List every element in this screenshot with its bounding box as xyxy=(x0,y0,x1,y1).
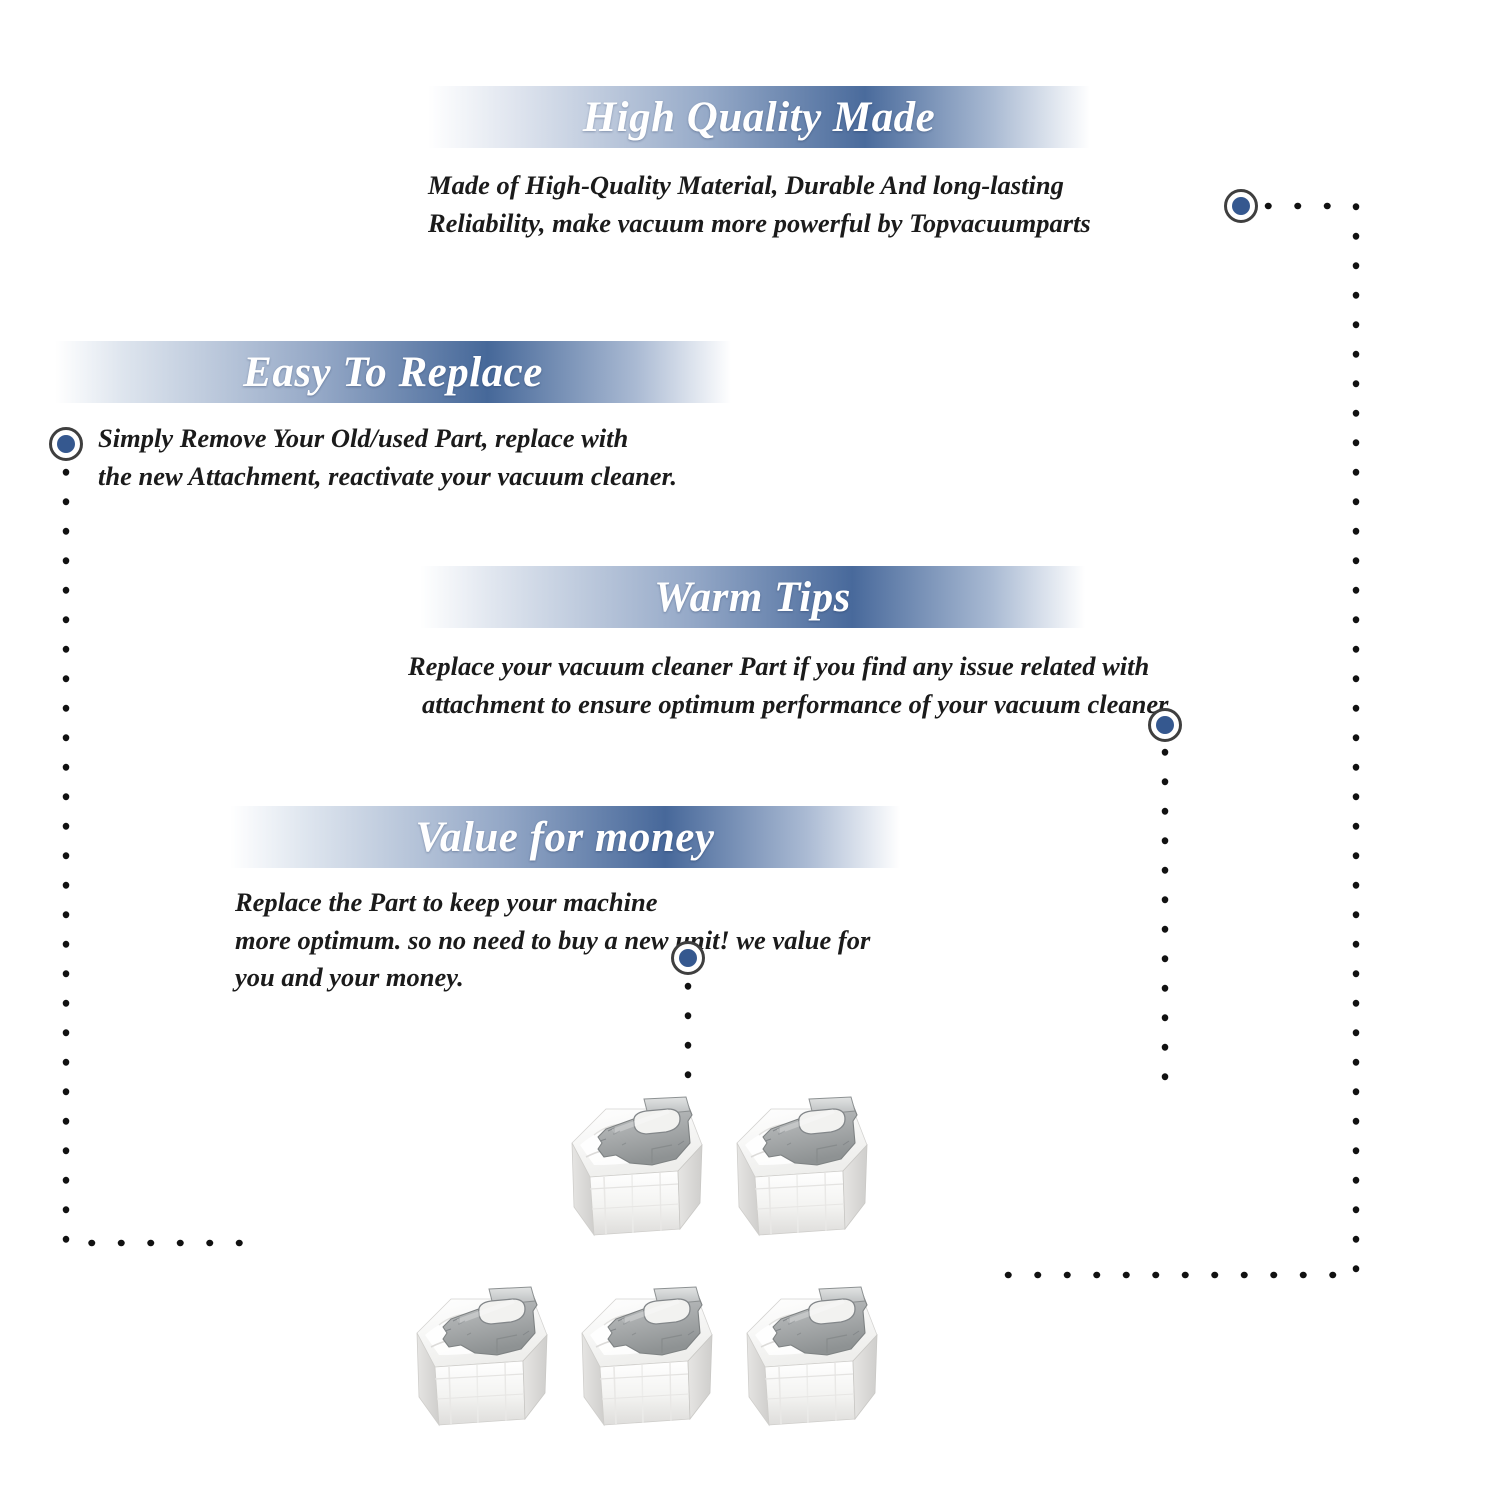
feature-description-line: Replace the Part to keep your machine xyxy=(235,884,900,922)
feature-value-for-money: Value for money Replace the Part to keep… xyxy=(230,806,900,997)
dust-bag xyxy=(747,1287,877,1425)
infographic-canvas: High Quality Made Made of High-Quality M… xyxy=(0,0,1500,1500)
feature-description-line: the new Attachment, reactivate your vacu… xyxy=(98,458,731,496)
feature-description-line: attachment to ensure optimum performance… xyxy=(422,686,1085,724)
connector-high-quality-made xyxy=(1005,206,1356,1275)
feature-warm-tips: Warm Tips Replace your vacuum cleaner Pa… xyxy=(420,566,1085,723)
feature-banner-warm-tips: Warm Tips xyxy=(420,566,1085,628)
feature-title: High Quality Made xyxy=(583,96,936,139)
dust-bag xyxy=(737,1097,867,1235)
feature-easy-to-replace: Easy To Replace Simply Remove Your Old/u… xyxy=(55,341,731,495)
feature-title: Warm Tips xyxy=(654,576,851,619)
feature-description-line: Simply Remove Your Old/used Part, replac… xyxy=(98,420,731,458)
feature-high-quality-made: High Quality Made Made of High-Quality M… xyxy=(428,86,1090,242)
feature-description-line: Made of High-Quality Material, Durable A… xyxy=(428,167,1090,205)
dust-bag xyxy=(572,1097,702,1235)
product-image-vacuum-cleaner-dust-bags xyxy=(395,1085,915,1485)
dust-bag xyxy=(582,1287,712,1425)
marker-core-icon xyxy=(1156,716,1174,734)
feature-title: Value for money xyxy=(416,816,715,859)
feature-description-line: more optimum. so no need to buy a new un… xyxy=(235,922,900,960)
feature-banner-easy-to-replace: Easy To Replace xyxy=(55,341,731,403)
feature-banner-value-for-money: Value for money xyxy=(230,806,900,868)
marker-core-icon xyxy=(679,949,697,967)
marker-core-icon xyxy=(57,435,75,453)
warm-tips-marker xyxy=(1148,708,1182,742)
feature-description-line: Replace your vacuum cleaner Part if you … xyxy=(408,648,1085,686)
feature-title: Easy To Replace xyxy=(243,351,543,394)
easy-to-replace-marker xyxy=(49,427,83,461)
feature-description-line: Reliability, make vacuum more powerful b… xyxy=(428,205,1090,243)
feature-banner-high-quality-made: High Quality Made xyxy=(428,86,1090,148)
dust-bag xyxy=(417,1287,547,1425)
high-quality-made-marker xyxy=(1224,189,1258,223)
marker-core-icon xyxy=(1232,197,1250,215)
dust-bags-illustration xyxy=(395,1085,915,1485)
value-for-money-marker xyxy=(671,941,705,975)
feature-description-line: you and your money. xyxy=(235,959,900,997)
